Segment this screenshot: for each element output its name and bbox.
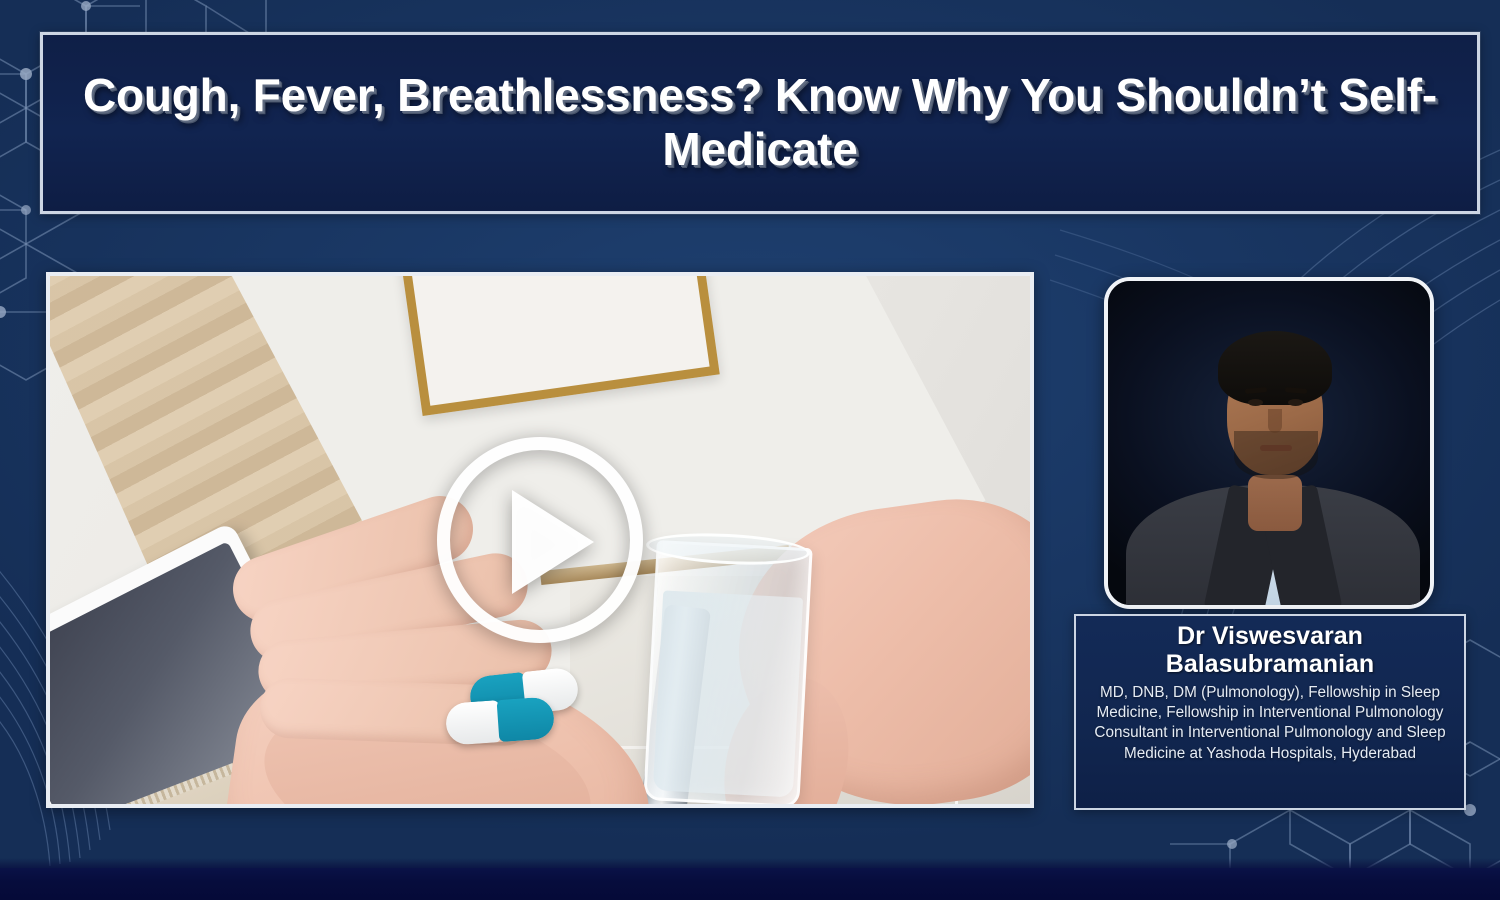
bottom-band [0, 868, 1500, 900]
video-thumbnail-card[interactable] [46, 272, 1034, 808]
play-button[interactable] [437, 437, 643, 643]
doctor-name: Dr Viswesvaran Balasubramanian [1086, 623, 1454, 678]
doctor-nose [1268, 409, 1282, 433]
doctor-neck [1248, 475, 1302, 531]
bottom-band-glow [0, 858, 1500, 868]
doctor-photo [1104, 277, 1434, 609]
title-panel: Cough, Fever, Breathlessness? Know Why Y… [40, 32, 1480, 214]
page-title: Cough, Fever, Breathlessness? Know Why Y… [69, 69, 1451, 177]
doctor-mouth [1260, 445, 1292, 451]
doctor-eye-left [1248, 399, 1263, 406]
doctor-eye-right [1288, 399, 1303, 406]
play-triangle-icon [512, 490, 594, 594]
doctor-info-panel: Dr Viswesvaran Balasubramanian MD, DNB, … [1074, 614, 1466, 810]
capsule-white-half [445, 700, 502, 746]
doctor-credentials: MD, DNB, DM (Pulmonology), Fellowship in… [1086, 683, 1454, 764]
scene-capsule-lower [445, 696, 556, 745]
doctor-hair [1218, 331, 1332, 405]
scene-glass-water [653, 590, 803, 797]
doctor-beard [1234, 431, 1318, 479]
